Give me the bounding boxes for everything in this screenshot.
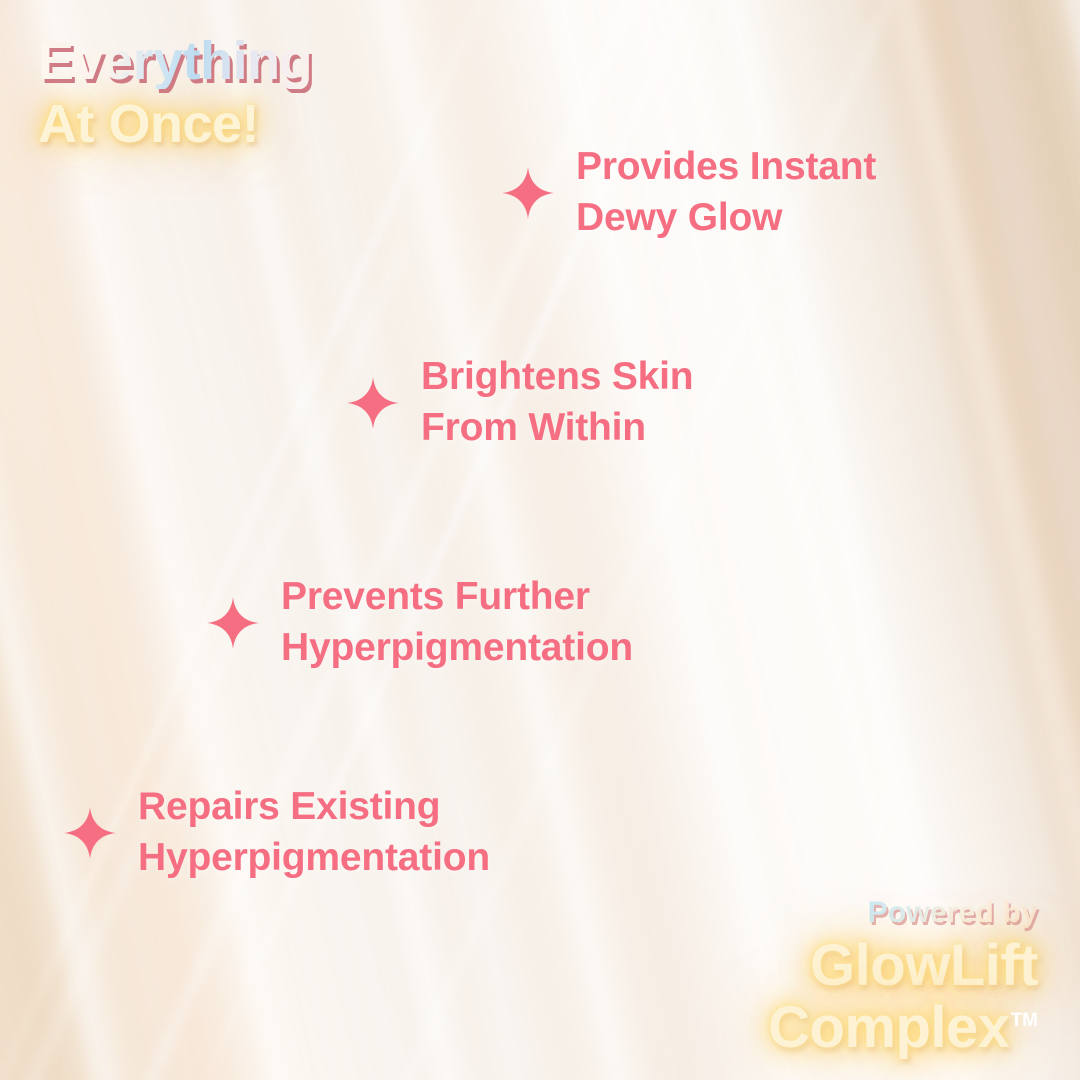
brand-lockup: Powered by GlowLift ComplexTM xyxy=(768,896,1038,1058)
headline-block: Everything At Once! xyxy=(38,34,312,152)
brand-name-line-2: Complex xyxy=(768,995,1009,1060)
benefit-label: Brightens Skin From Within xyxy=(421,352,693,453)
benefit-label: Provides Instant Dewy Glow xyxy=(576,142,876,243)
sparkle-icon xyxy=(345,375,401,431)
headline-line-2: At Once! xyxy=(38,97,312,152)
headline-line-1: Everything xyxy=(38,34,312,89)
poster-canvas: Everything At Once! Provides Instant Dew… xyxy=(0,0,1080,1080)
benefit-item: Prevents Further Hyperpigmentation xyxy=(205,572,633,673)
brand-name-line-1: GlowLift xyxy=(768,935,1038,996)
sparkle-icon xyxy=(62,805,118,861)
sparkle-icon xyxy=(500,165,556,221)
benefit-item: Provides Instant Dewy Glow xyxy=(500,142,876,243)
poster-content: Everything At Once! Provides Instant Dew… xyxy=(0,0,1080,1080)
benefit-item: Repairs Existing Hyperpigmentation xyxy=(62,782,490,883)
benefit-item: Brightens Skin From Within xyxy=(345,352,693,453)
sparkle-icon xyxy=(205,595,261,651)
brand-name-line-2-row: ComplexTM xyxy=(768,997,1038,1058)
powered-by-label: Powered by xyxy=(768,896,1038,929)
benefit-label: Prevents Further Hyperpigmentation xyxy=(281,572,633,673)
benefit-label: Repairs Existing Hyperpigmentation xyxy=(138,782,490,883)
trademark-symbol: TM xyxy=(1011,1010,1038,1031)
